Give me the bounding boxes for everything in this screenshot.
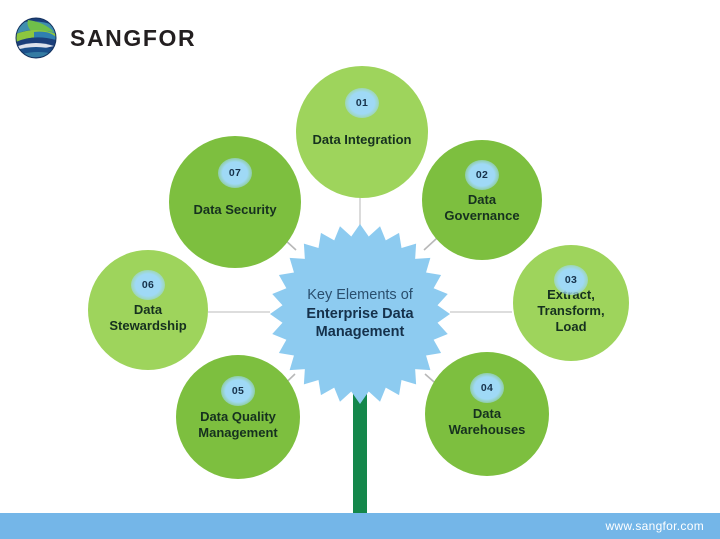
diagram-stage: 01 Data Integration 02 Data Governance 0… — [0, 0, 720, 539]
node-badge-03: 03 — [554, 265, 588, 295]
central-hub: Key Elements of Enterprise Data Manageme… — [268, 222, 452, 406]
starburst-shape — [268, 222, 452, 406]
node-06[interactable]: 06 Data Stewardship — [88, 250, 208, 370]
node-badge-06: 06 — [131, 270, 165, 300]
infographic-canvas: SANGFOR 01 Data Integration 0 — [0, 0, 720, 539]
node-01[interactable]: 01 Data Integration — [296, 66, 428, 198]
node-badge-02: 02 — [465, 160, 499, 190]
node-badge-07: 07 — [218, 158, 252, 188]
footer-url[interactable]: www.sangfor.com — [605, 519, 720, 533]
node-badge-01: 01 — [345, 88, 379, 118]
node-label-04: Data Warehouses — [425, 406, 549, 439]
node-label-07: Data Security — [183, 202, 286, 218]
node-label-02: Data Governance — [422, 192, 542, 225]
node-label-05: Data Quality Management — [176, 409, 300, 442]
node-label-01: Data Integration — [303, 132, 422, 148]
footer-bar: www.sangfor.com — [0, 513, 720, 539]
node-label-06: Data Stewardship — [88, 302, 208, 335]
node-badge-05: 05 — [221, 376, 255, 406]
node-badge-04: 04 — [470, 373, 504, 403]
node-03[interactable]: 03 Extract, Transform, Load — [513, 245, 629, 361]
